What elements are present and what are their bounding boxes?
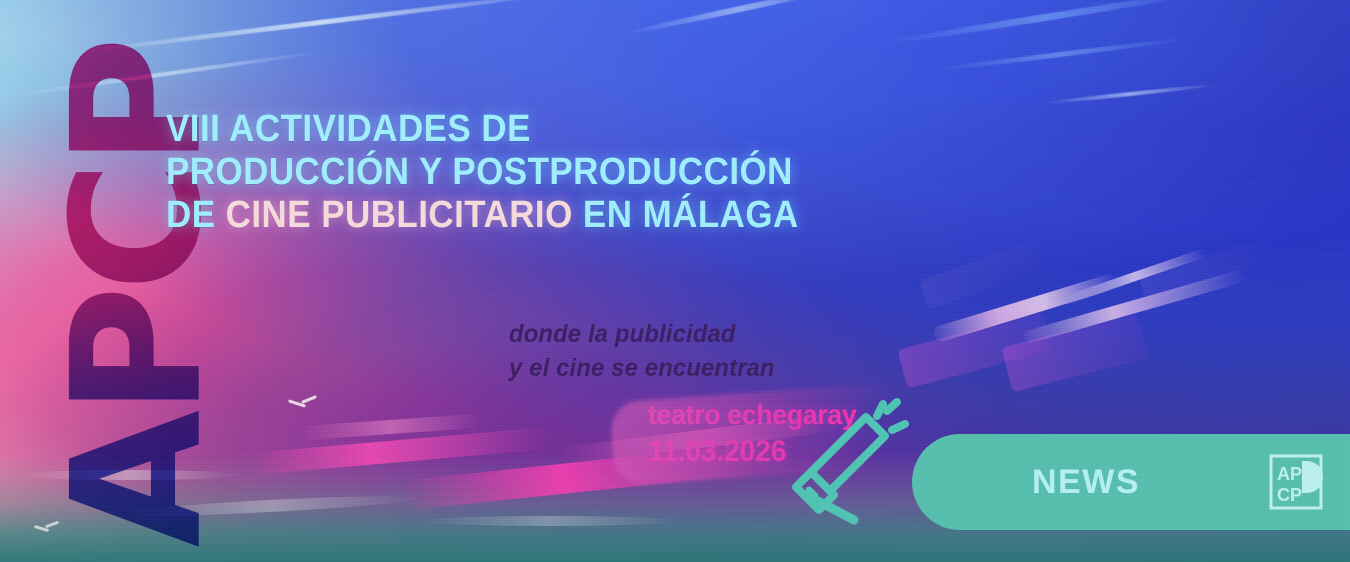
- tagline: donde la publicidad y el cine se encuent…: [509, 317, 775, 385]
- bird-silhouette: [34, 522, 60, 534]
- wave-stroke: [420, 516, 680, 526]
- apcp-logo-top: AP: [1277, 464, 1302, 484]
- headline-line-3-highlight: CINE PUBLICITARIO: [226, 194, 573, 236]
- megaphone-icon: [782, 398, 912, 530]
- headline-line-3-prefix: DE: [166, 194, 226, 236]
- news-label: NEWS: [1032, 463, 1140, 502]
- tagline-line-2: y el cine se encuentran: [509, 351, 775, 385]
- headline: VIII ACTIVIDADES DE PRODUCCIÓN Y POSTPRO…: [166, 108, 799, 237]
- wave-stroke: [20, 470, 240, 480]
- tagline-line-1: donde la publicidad: [509, 317, 775, 351]
- promo-banner: APCP VIII ACTIVIDADES DE PRODUCCIÓN Y PO…: [0, 0, 1350, 562]
- bird-silhouette: [288, 396, 318, 410]
- headline-line-3: DE CINE PUBLICITARIO EN MÁLAGA: [166, 194, 799, 237]
- apcp-logo-bottom: CP: [1277, 485, 1302, 505]
- headline-line-1: VIII ACTIVIDADES DE: [166, 108, 799, 151]
- apcp-logo: AP CP: [1269, 454, 1323, 510]
- headline-line-3-suffix: EN MÁLAGA: [573, 194, 799, 236]
- headline-line-2: PRODUCCIÓN Y POSTPRODUCCIÓN: [166, 151, 799, 194]
- news-banner[interactable]: NEWS AP CP: [912, 434, 1350, 530]
